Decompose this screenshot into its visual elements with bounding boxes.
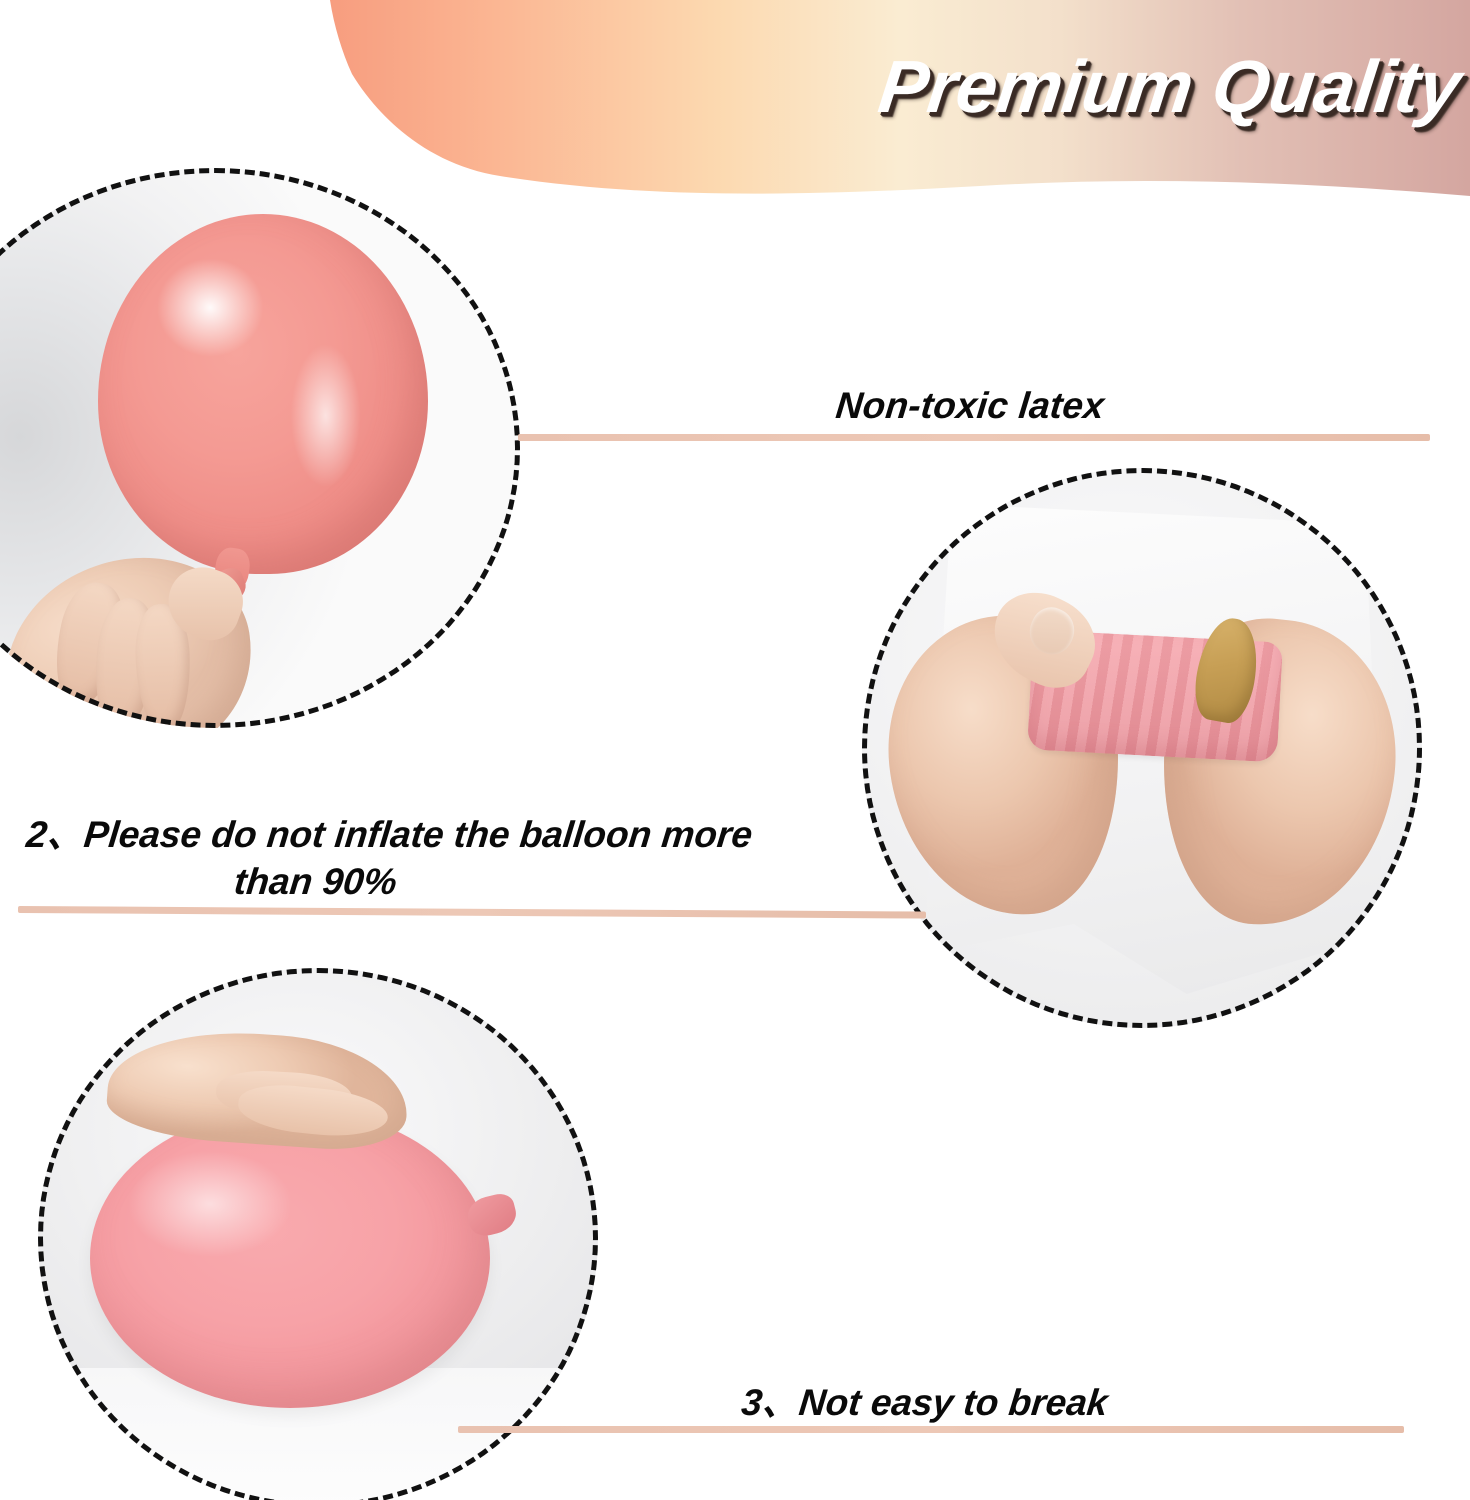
feature-label-inflate-limit: 2、Please do not inflate the balloon more… [13, 812, 923, 906]
photo-stretching-latex [862, 468, 1422, 1028]
feature-label-not-easy-to-break: 3、Not easy to break [739, 1372, 1111, 1426]
page-title: Premium Quality [635, 44, 1465, 129]
feature-label-line-1: 2、Please do not inflate the balloon more [18, 812, 923, 859]
balloon-body-icon [90, 1108, 490, 1408]
feature-rule-2 [18, 906, 926, 919]
feature-image-non-toxic-latex [0, 168, 520, 728]
feature-rule-1 [518, 434, 1430, 441]
photo-inflated-balloon [0, 168, 520, 728]
feature-label-non-toxic-latex: Non-toxic latex [834, 385, 1107, 427]
feature-image-press-test [38, 968, 598, 1500]
balloon-body-icon [98, 214, 428, 574]
photo-pressing-balloon [38, 968, 598, 1500]
feature-image-stretch-test [862, 468, 1422, 1028]
infographic-canvas: Premium Quality Non-toxic latex [0, 0, 1470, 1500]
feature-rule-3 [458, 1426, 1404, 1433]
feature-label-line-2: than 90% [13, 859, 918, 906]
